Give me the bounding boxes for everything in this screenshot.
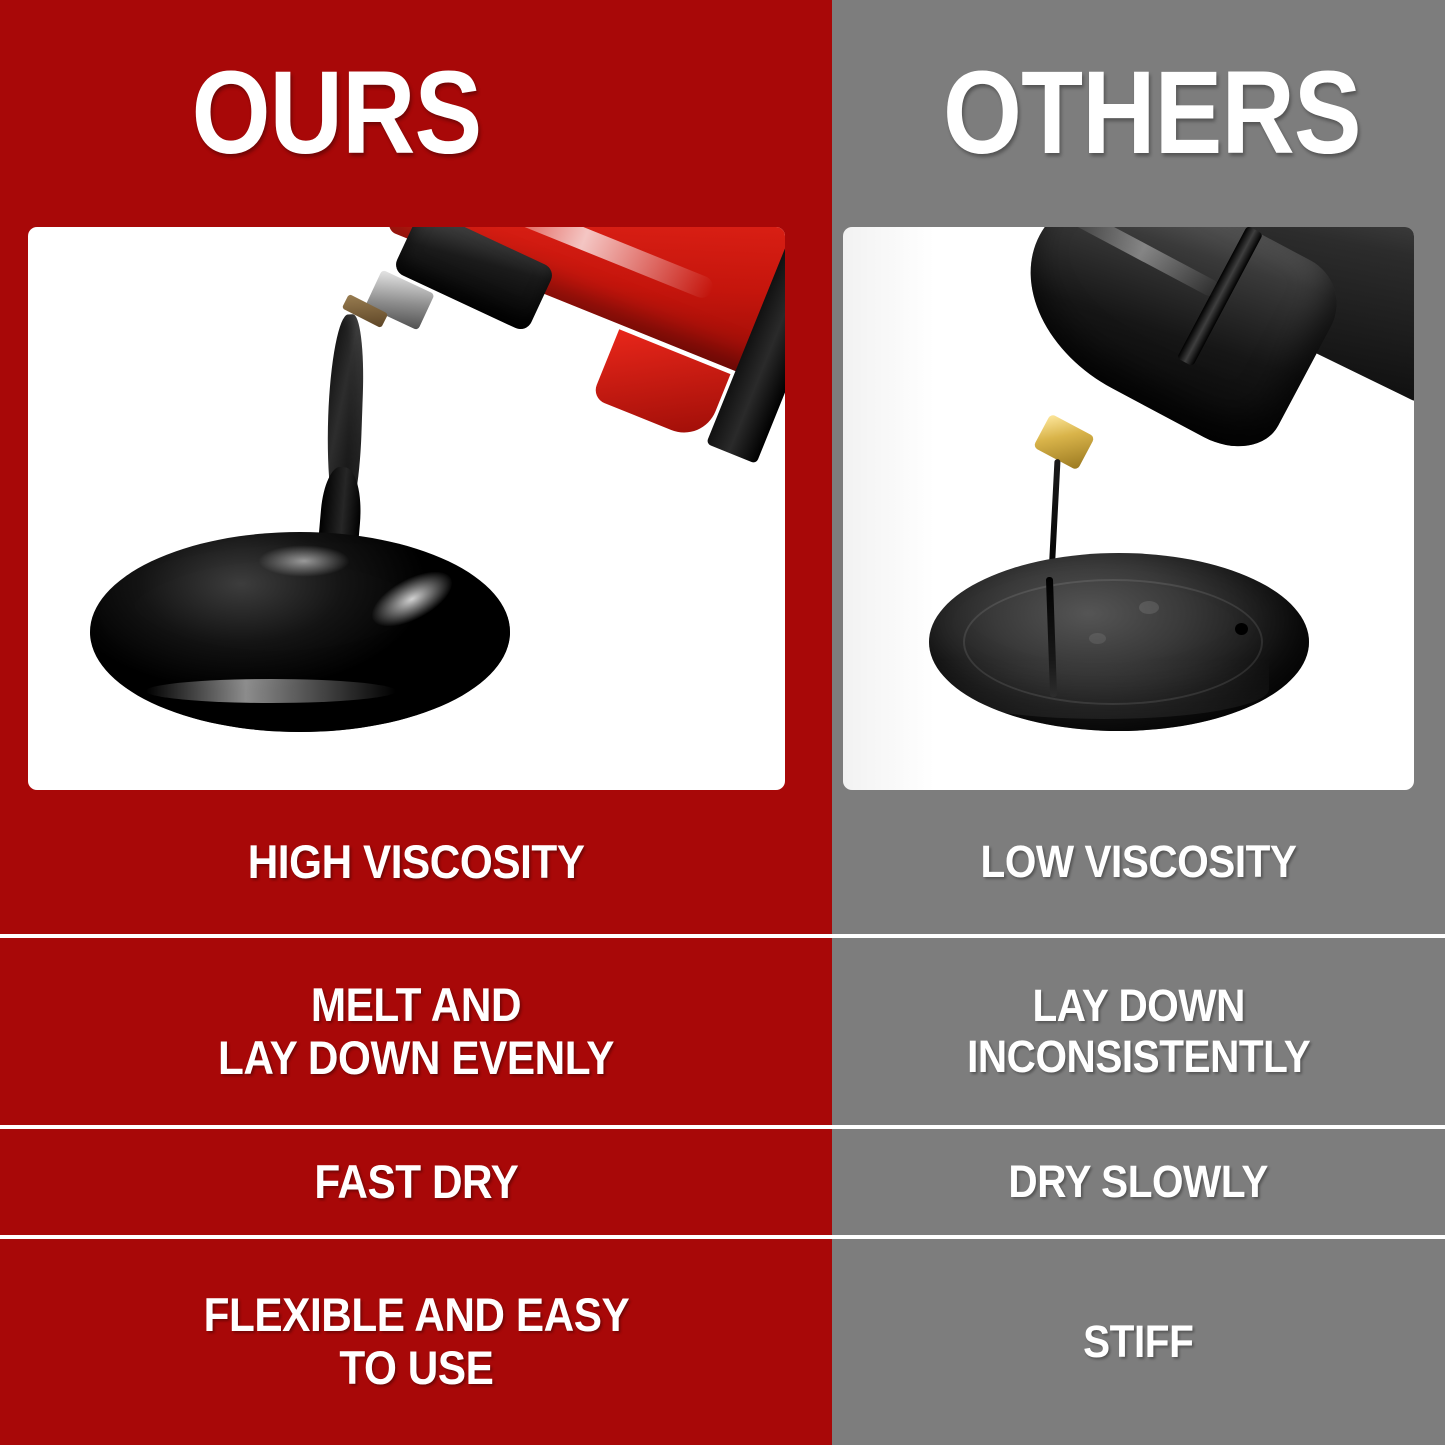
others-feature-label-4: STIFF bbox=[1083, 1317, 1193, 1367]
black-glue-gun-thin-drip-photo bbox=[843, 227, 1414, 790]
comparison-infographic: OURS HIGH VISCOSITY bbox=[0, 0, 1445, 1445]
ours-feature-row-3: FAST DRY bbox=[0, 1125, 832, 1235]
others-feature-label-1: LOW VISCOSITY bbox=[981, 837, 1297, 887]
others-feature-list: LOW VISCOSITY LAY DOWN INCONSISTENTLY DR… bbox=[832, 790, 1445, 1445]
ours-heading-band: OURS bbox=[0, 0, 832, 227]
ours-feature-list: HIGH VISCOSITY MELT AND LAY DOWN EVENLY … bbox=[0, 790, 832, 1445]
ours-feature-row-4: FLEXIBLE AND EASY TO USE bbox=[0, 1235, 832, 1445]
others-feature-row-3: DRY SLOWLY bbox=[832, 1125, 1445, 1235]
puddle-edge-sheen bbox=[939, 659, 1269, 719]
puddle-bubble-2 bbox=[1089, 633, 1106, 644]
others-feature-row-4: STIFF bbox=[832, 1235, 1445, 1445]
ours-heading: OURS bbox=[191, 57, 481, 169]
puddle-bubble-1 bbox=[1139, 601, 1159, 614]
others-photo-wrap bbox=[832, 227, 1445, 790]
others-column: OTHERS LOW VISCOSITY bbox=[832, 0, 1445, 1445]
adhesive-highlight-bottom bbox=[146, 679, 396, 703]
ours-feature-label-1: HIGH VISCOSITY bbox=[248, 836, 585, 889]
others-feature-row-2: LAY DOWN INCONSISTENTLY bbox=[832, 934, 1445, 1125]
puddle-dark-speck bbox=[1235, 623, 1248, 635]
others-feature-label-2: LAY DOWN INCONSISTENTLY bbox=[967, 981, 1310, 1082]
red-glue-gun-thick-bead-photo bbox=[28, 227, 785, 790]
ours-feature-label-4: FLEXIBLE AND EASY TO USE bbox=[203, 1289, 629, 1394]
others-heading-band: OTHERS bbox=[832, 0, 1445, 227]
adhesive-highlight-top bbox=[258, 545, 350, 577]
ours-feature-label-3: FAST DRY bbox=[314, 1156, 518, 1209]
ours-column: OURS HIGH VISCOSITY bbox=[0, 0, 832, 1445]
others-feature-label-3: DRY SLOWLY bbox=[1009, 1157, 1269, 1207]
ours-photo-wrap bbox=[0, 227, 832, 790]
ours-feature-row-1: HIGH VISCOSITY bbox=[0, 790, 832, 934]
ours-feature-row-2: MELT AND LAY DOWN EVENLY bbox=[0, 934, 832, 1125]
ours-feature-label-2: MELT AND LAY DOWN EVENLY bbox=[218, 979, 614, 1084]
others-feature-row-1: LOW VISCOSITY bbox=[832, 790, 1445, 934]
brass-nozzle-tip bbox=[1033, 413, 1095, 470]
others-heading: OTHERS bbox=[943, 57, 1361, 169]
